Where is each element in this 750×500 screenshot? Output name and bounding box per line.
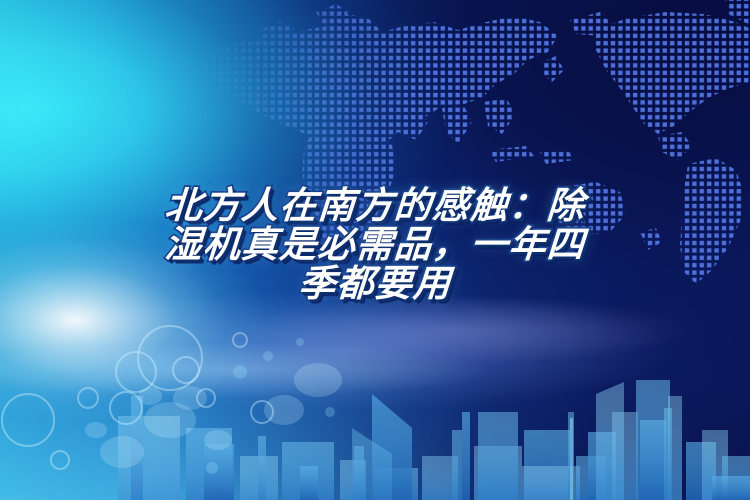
title-line-1: 北方人在南方的感触：除 [0, 186, 750, 225]
title-line-3: 季都要用 [0, 264, 750, 303]
article-banner: 北方人在南方的感触：除 湿机真是必需品，一年四 季都要用 [0, 0, 750, 500]
banner-title: 北方人在南方的感触：除 湿机真是必需品，一年四 季都要用 [0, 186, 750, 303]
title-line-2: 湿机真是必需品，一年四 [0, 225, 750, 264]
